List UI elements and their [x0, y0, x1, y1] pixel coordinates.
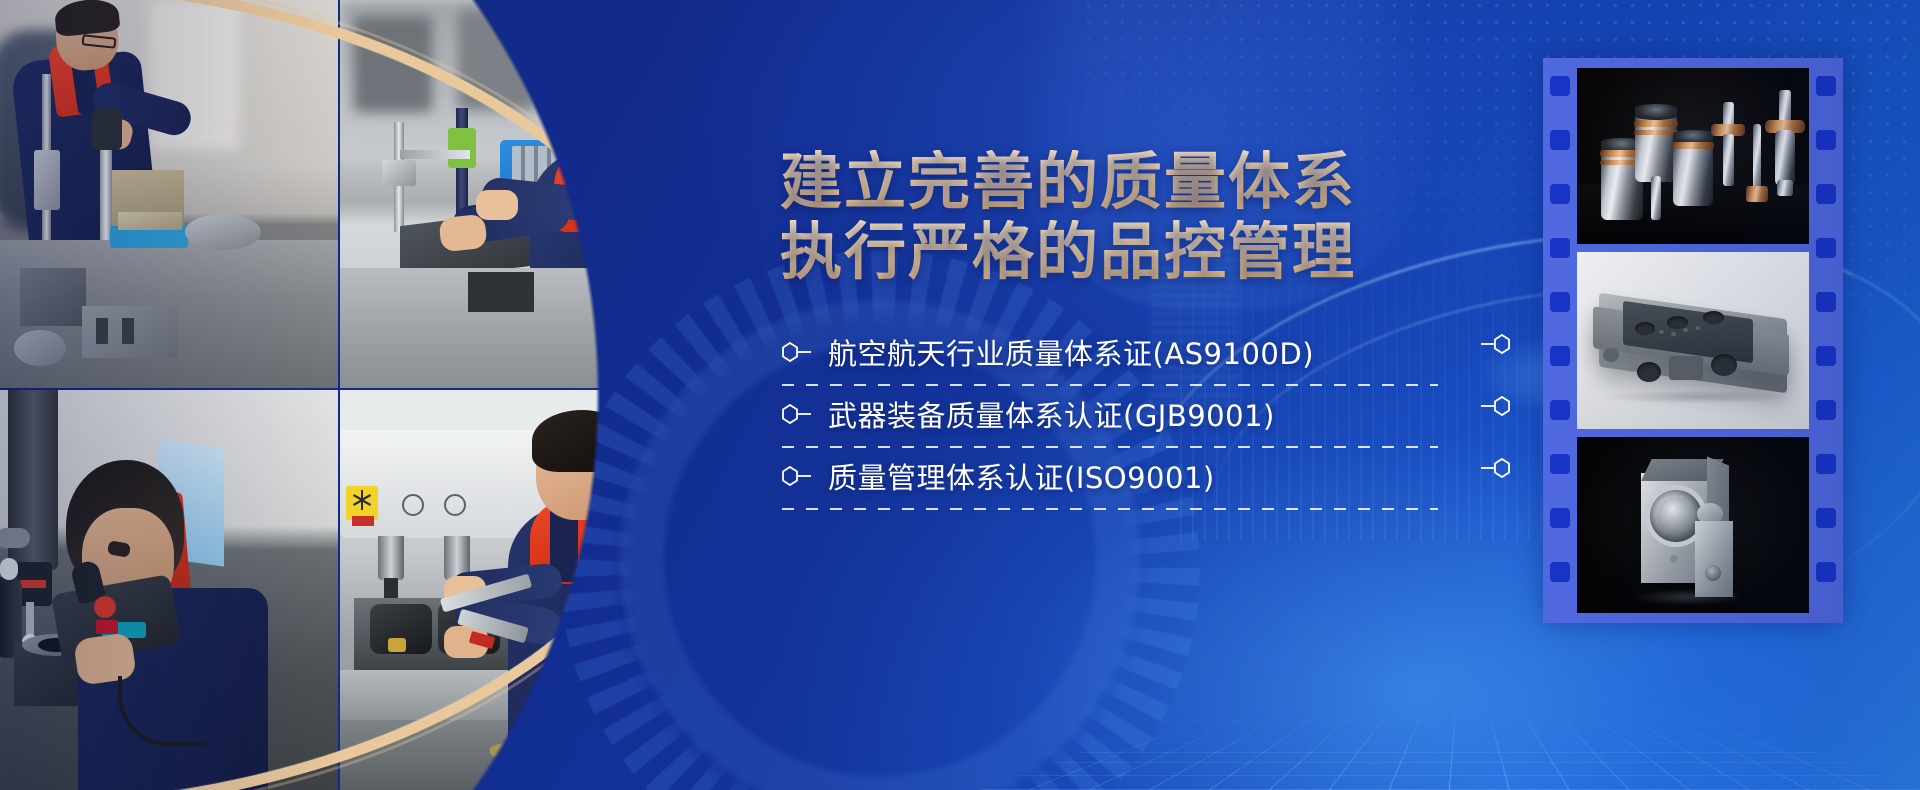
certification-item: 武器装备质量体系认证(GJB9001) [780, 386, 1420, 448]
filmstrip-perforations-right [1809, 58, 1843, 623]
product-precision-shafts-bushings [1577, 68, 1809, 244]
certification-label: 质量管理体系认证(ISO9001) [828, 455, 1215, 497]
hexagon-end-icon [1478, 457, 1512, 484]
certification-label: 武器装备质量体系认证(GJB9001) [828, 393, 1275, 435]
photo-cmm-coordinate-measuring [0, 390, 338, 790]
hexagon-bullet-icon [780, 341, 814, 363]
certification-item: 质量管理体系认证(ISO9001) [780, 448, 1420, 510]
headline-line-2: 执行严格的品控管理 [780, 220, 1540, 284]
certification-list: 航空航天行业质量体系证(AS9100D) 武器装备质量体系认证(GJ [780, 324, 1420, 510]
product-bearing-block [1577, 437, 1809, 613]
filmstrip-perforations-left [1543, 58, 1577, 623]
headline-line-1: 建立完善的质量体系 [780, 150, 1540, 214]
hexagon-end-icon [1478, 395, 1512, 422]
certification-item: 航空航天行业质量体系证(AS9100D) [780, 324, 1420, 386]
photo-cnc-machine-operator [340, 390, 680, 790]
photo-inspector-height-gauge [0, 0, 338, 388]
hexagon-bullet-icon [780, 403, 814, 425]
product-machined-aluminum-housing [1577, 252, 1809, 428]
certification-label: 航空航天行业质量体系证(AS9100D) [828, 331, 1314, 373]
hexagon-end-icon [1478, 333, 1512, 360]
background-perspective-grid [980, 708, 1920, 790]
quality-system-banner: 建立完善的质量体系 执行严格的品控管理 航空航天行业质量体系证(AS9100D) [0, 0, 1920, 790]
headline: 建立完善的质量体系 执行严格的品控管理 [780, 150, 1540, 284]
hexagon-bullet-icon [780, 465, 814, 487]
product-filmstrip [1543, 58, 1843, 623]
photo-operator-measuring-parts [340, 0, 680, 388]
dashed-separator [782, 508, 1438, 510]
photo-collage [0, 0, 680, 790]
banner-content: 建立完善的质量体系 执行严格的品控管理 航空航天行业质量体系证(AS9100D) [780, 150, 1540, 510]
